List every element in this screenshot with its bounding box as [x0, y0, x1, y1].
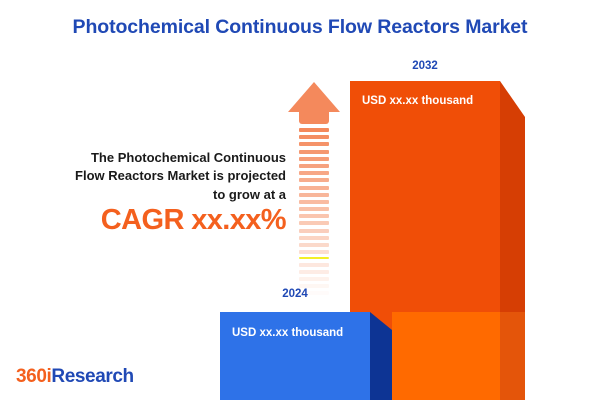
bar-base-value-label: USD xx.xx thousand [232, 327, 392, 339]
bar-year-label-2032: 2032 [350, 60, 500, 72]
arrow-stripe [299, 142, 329, 146]
arrow-stripe [299, 270, 329, 274]
arrow-stripe [299, 200, 329, 204]
brand-logo-prefix: 360i [16, 366, 51, 387]
arrow-stripe [299, 263, 329, 267]
arrow-stripe [299, 277, 329, 281]
page-title: Photochemical Continuous Flow Reactors M… [0, 16, 600, 39]
growth-statement: The Photochemical Continuous Flow Reacto… [24, 149, 286, 204]
arrow-stripe [299, 157, 329, 161]
arrow-stripe [299, 186, 329, 190]
infographic-canvas: Photochemical Continuous Flow Reactors M… [0, 0, 600, 400]
bar-year-label-2024: 2024 [220, 288, 370, 300]
arrow-stripes [299, 128, 329, 297]
bar-forecast-side-lower [500, 312, 525, 400]
arrow-stripe [299, 236, 329, 240]
arrow-stripe [299, 128, 329, 132]
arrow-head-icon [288, 82, 340, 112]
bar-forecast-lower-face [392, 312, 500, 400]
arrow-stripe [299, 150, 329, 154]
arrow-stripe [299, 250, 329, 254]
statement-line-1: The Photochemical Continuous [24, 149, 286, 167]
arrow-stripe [299, 193, 329, 197]
bar-forecast-value-label: USD xx.xx thousand [362, 95, 522, 107]
arrow-stripe [299, 257, 329, 259]
bar-base-front [220, 312, 370, 400]
arrow-stripe [299, 207, 329, 211]
arrow-neck-icon [299, 112, 329, 124]
brand-logo[interactable]: 360iResearch [16, 366, 134, 388]
arrow-stripe [299, 243, 329, 247]
arrow-stripe [299, 164, 329, 168]
cagr-value: CAGR xx.xx% [24, 204, 286, 237]
arrow-stripe [299, 214, 329, 218]
arrow-stripe [299, 178, 329, 182]
growth-arrow-up-icon [288, 82, 340, 297]
arrow-stripe [299, 171, 329, 175]
arrow-stripe [299, 135, 329, 139]
arrow-stripe [299, 221, 329, 225]
arrow-stripe [299, 229, 329, 233]
statement-line-3: to grow at a [24, 186, 286, 204]
brand-logo-suffix: Research [51, 366, 133, 387]
statement-line-2: Flow Reactors Market is projected [24, 167, 286, 185]
